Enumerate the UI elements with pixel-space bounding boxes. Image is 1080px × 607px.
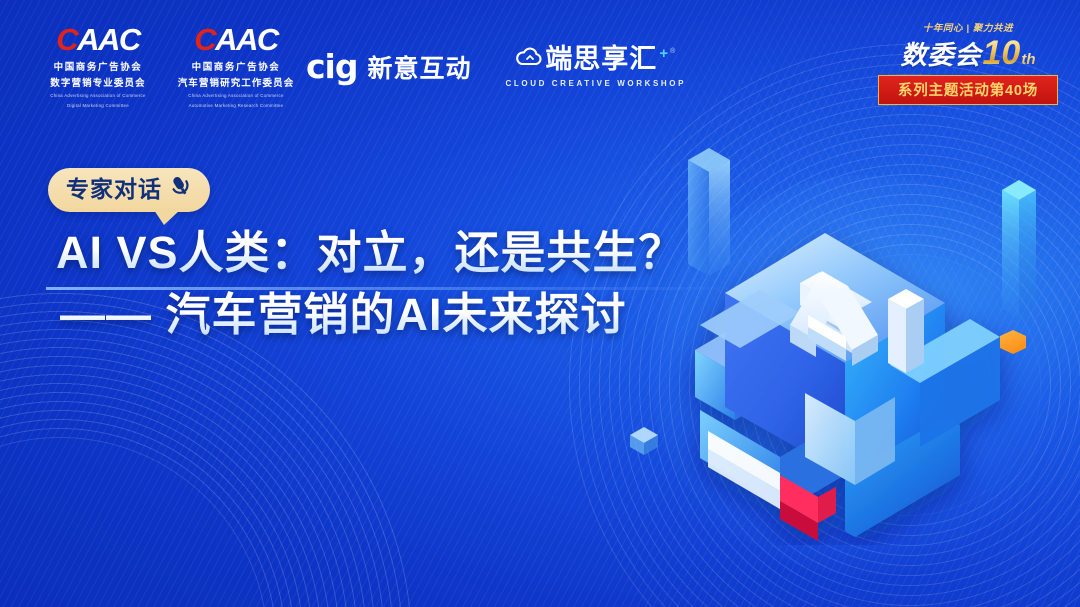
logo-cn-line1: 中国商务广告协会	[54, 59, 143, 73]
badge-event-text: 系列主题活动第40场	[898, 83, 1038, 99]
title-line-2: —— 汽车营销的AI未来探讨	[56, 287, 685, 343]
badge-org-name: 数委会	[900, 35, 981, 72]
caac-wordmark: CAAC	[56, 24, 140, 55]
sponsor-logo-row: CAAC 中国商务广告协会 数字营销专业委员会 China Advertisin…	[42, 24, 686, 109]
cloud-cn-name: 端思享汇	[545, 46, 657, 73]
badge-anniversary-number: 10	[983, 36, 1021, 70]
expert-dialogue-label: 专家对话	[66, 178, 162, 201]
logo-en-line2: Digital Marketing Committee	[67, 102, 129, 109]
title-line-1: AI VS人类：对立，还是共生？	[56, 225, 685, 281]
pillar-right-3d	[1002, 180, 1036, 320]
main-title: AI VS人类：对立，还是共生？ —— 汽车营销的AI未来探讨	[56, 225, 685, 344]
center-glow	[650, 175, 1080, 575]
expert-dialogue-tag-wrap: 专家对话	[48, 168, 210, 212]
logo-en-line1: China Advertising Association of Commerc…	[188, 92, 283, 99]
logo-cloud-creative-workshop: 端思享汇 + ® CLOUD CREATIVE WORKSHOP	[506, 46, 687, 88]
caac-wordmark: CAAC	[194, 24, 278, 55]
caac-rest-letters: AAC	[77, 22, 140, 57]
caac-rest-letters: AAC	[215, 22, 278, 57]
pillar-left-3d	[688, 148, 730, 276]
caac-initial-letter: C	[56, 22, 77, 57]
badge-tagline: 十年同心 | 聚力共进	[878, 20, 1058, 34]
cig-cn-name: 新意互动	[368, 49, 472, 85]
anniversary-badge: 十年同心 | 聚力共进 数委会 10 th 系列主题活动第40场	[878, 20, 1058, 105]
logo-caac-digital-marketing: CAAC 中国商务广告协会 数字营销专业委员会 China Advertisin…	[42, 24, 154, 109]
badge-anniversary-suffix: th	[1021, 51, 1035, 68]
logo-cig: cig 新意互动	[306, 49, 472, 85]
cloud-icon	[516, 46, 542, 68]
tag-pointer	[154, 210, 180, 225]
logo-en-line2: Automotive Marketing Research Committee	[189, 102, 284, 109]
logo-cn-line2: 数字营销专业委员会	[50, 75, 145, 89]
badge-main-line: 数委会 10 th	[878, 35, 1058, 72]
cig-wordmark: cig	[306, 50, 358, 83]
poster-root: CAAC 中国商务广告协会 数字营销专业委员会 China Advertisin…	[0, 0, 1080, 607]
logo-caac-auto-marketing: CAAC 中国商务广告协会 汽车营销研究工作委员会 China Advertis…	[180, 24, 292, 109]
microphone-icon	[168, 175, 194, 204]
cloud-logo-top: 端思享汇 + ®	[516, 46, 675, 73]
logo-cn-line1: 中国商务广告协会	[192, 59, 281, 73]
logo-cn-line2: 汽车营销研究工作委员会	[178, 75, 295, 89]
cloud-plus-icon: +	[659, 46, 668, 61]
cloud-en-name: CLOUD CREATIVE WORKSHOP	[506, 79, 687, 88]
ai-cube-3d	[640, 175, 1040, 545]
orange-hexagon	[1000, 330, 1026, 354]
registered-mark: ®	[670, 48, 675, 55]
badge-event-banner: 系列主题活动第40场	[878, 75, 1058, 105]
expert-dialogue-tag: 专家对话	[48, 168, 210, 212]
caac-initial-letter: C	[194, 22, 215, 57]
logo-en-line1: China Advertising Association of Commerc…	[50, 92, 145, 99]
floating-chip-1	[630, 425, 664, 457]
